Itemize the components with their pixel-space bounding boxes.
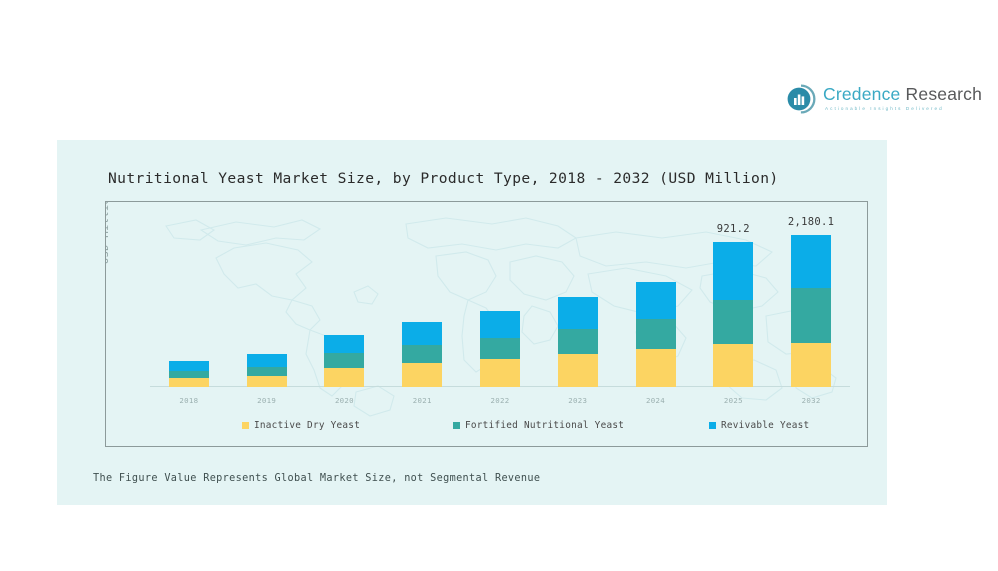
- x-axis-tick-2025: 2025: [724, 396, 743, 405]
- bar-segment-yellow[interactable]: [169, 378, 209, 387]
- bar-segment-yellow[interactable]: [713, 344, 753, 387]
- bar-segment-teal[interactable]: [480, 338, 520, 359]
- stacked-bar[interactable]: [169, 361, 209, 387]
- stacked-bar[interactable]: [636, 282, 676, 387]
- legend-swatch-icon: [242, 422, 249, 429]
- legend-item-inactive-dry-yeast[interactable]: Inactive Dry Yeast: [242, 420, 360, 431]
- bar-segment-teal[interactable]: [791, 288, 831, 343]
- bar-segment-teal[interactable]: [636, 319, 676, 349]
- bar-chart-circle-icon: [786, 84, 816, 114]
- bar-segment-blue[interactable]: [558, 297, 598, 329]
- bar-segment-blue[interactable]: [480, 311, 520, 338]
- legend-item-revivable-yeast[interactable]: Revivable Yeast: [709, 420, 809, 431]
- bar-segment-yellow[interactable]: [324, 368, 364, 387]
- legend-item-fortified-nutritional-yeast[interactable]: Fortified Nutritional Yeast: [453, 420, 624, 431]
- x-axis-tick-2032: 2032: [802, 396, 821, 405]
- plot-area: USD Million 2018201920202021202220232024…: [105, 201, 868, 447]
- legend-swatch-icon: [709, 422, 716, 429]
- bar-segment-yellow[interactable]: [402, 363, 442, 387]
- bar-segment-teal[interactable]: [713, 300, 753, 344]
- legend-label: Inactive Dry Yeast: [254, 420, 360, 431]
- x-axis-tick-2023: 2023: [568, 396, 587, 405]
- stacked-bar[interactable]: [247, 354, 287, 387]
- bar-segment-teal[interactable]: [324, 353, 364, 368]
- bar-segment-blue[interactable]: [713, 242, 753, 300]
- bar-segment-blue[interactable]: [636, 282, 676, 319]
- bar-segment-teal[interactable]: [247, 367, 287, 376]
- stacked-bar[interactable]: [558, 297, 598, 387]
- bar-segment-teal[interactable]: [402, 345, 442, 363]
- bar-segment-teal[interactable]: [169, 371, 209, 378]
- stacked-bar[interactable]: [480, 311, 520, 387]
- legend-label: Revivable Yeast: [721, 420, 809, 431]
- bar-segment-blue[interactable]: [169, 361, 209, 371]
- stacked-bar[interactable]: [791, 235, 831, 387]
- bar-value-label-2032: 2,180.1: [788, 216, 834, 228]
- chart-title: Nutritional Yeast Market Size, by Produc…: [108, 170, 828, 187]
- x-axis-tick-2022: 2022: [491, 396, 510, 405]
- legend-swatch-icon: [453, 422, 460, 429]
- legend-label: Fortified Nutritional Yeast: [465, 420, 624, 431]
- x-axis-tick-2024: 2024: [646, 396, 665, 405]
- bar-segment-yellow[interactable]: [791, 343, 831, 387]
- bar-segment-teal[interactable]: [558, 329, 598, 354]
- x-axis-tick-2019: 2019: [257, 396, 276, 405]
- x-axis-tick-2018: 2018: [179, 396, 198, 405]
- brand-name-primary: Credence: [823, 84, 900, 104]
- bar-value-label-2025: 921.2: [717, 223, 750, 235]
- bar-segment-yellow[interactable]: [247, 376, 287, 387]
- y-axis-label: USD Million: [105, 201, 111, 264]
- brand-logo-text: Credence Research Actionable Insights De…: [823, 86, 982, 111]
- brand-name-secondary: Research: [906, 84, 983, 104]
- chart-footnote: The Figure Value Represents Global Marke…: [93, 473, 540, 484]
- bar-segment-yellow[interactable]: [636, 349, 676, 387]
- stacked-bar[interactable]: [713, 242, 753, 387]
- bar-segment-blue[interactable]: [324, 335, 364, 353]
- stacked-bar[interactable]: [402, 322, 442, 387]
- bar-segment-blue[interactable]: [791, 235, 831, 288]
- brand-tagline: Actionable Insights Delivered: [825, 107, 982, 112]
- chart-legend: Inactive Dry YeastFortified Nutritional …: [105, 420, 868, 440]
- bar-segment-yellow[interactable]: [480, 359, 520, 387]
- x-axis-tick-2021: 2021: [413, 396, 432, 405]
- brand-logo: Credence Research Actionable Insights De…: [786, 84, 982, 114]
- bar-segment-blue[interactable]: [402, 322, 442, 345]
- bar-segment-yellow[interactable]: [558, 354, 598, 387]
- stacked-bar[interactable]: [324, 335, 364, 387]
- x-axis-tick-2020: 2020: [335, 396, 354, 405]
- bar-segment-blue[interactable]: [247, 354, 287, 367]
